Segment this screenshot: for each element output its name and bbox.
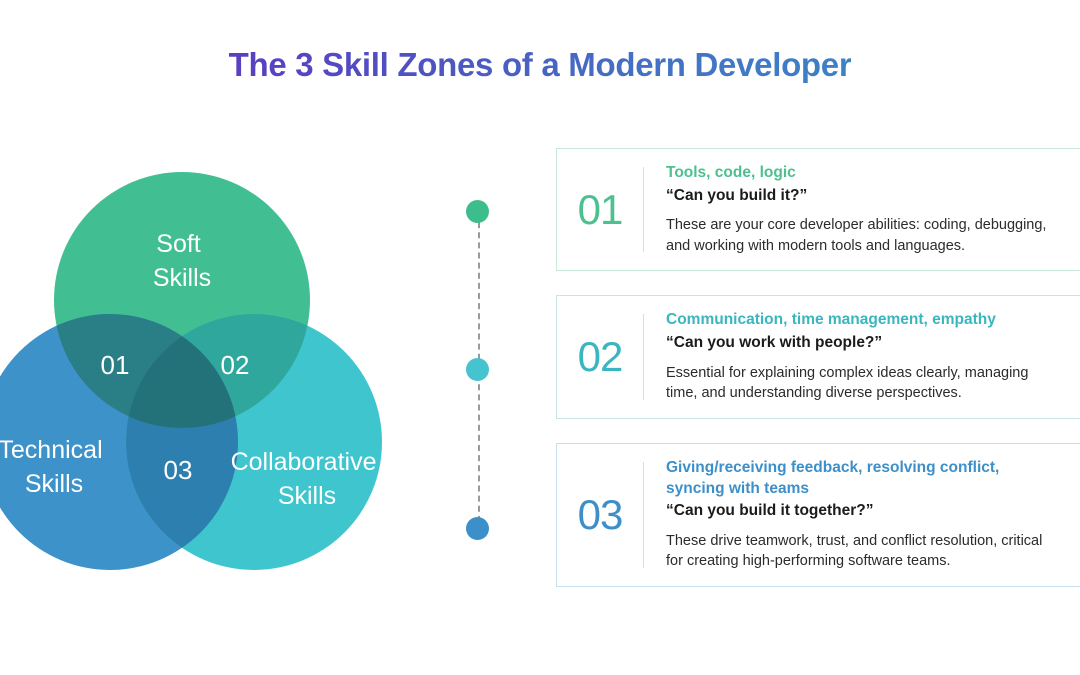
skill-card-question: “Can you work with people?”: [666, 332, 1080, 354]
skill-card-description: These are your core developer abilities:…: [666, 215, 1080, 256]
skill-card-body: Giving/receiving feedback, resolving con…: [644, 458, 1080, 572]
timeline-dot-01[interactable]: [466, 200, 489, 223]
skill-card-03[interactable]: 03 Giving/receiving feedback, resolving …: [556, 443, 1080, 587]
skill-card-description: These drive teamwork, trust, and conflic…: [666, 531, 1080, 572]
skill-card-number: 03: [557, 494, 643, 536]
venn-diagram: Soft Skills Technical Skills Collaborati…: [0, 160, 412, 590]
skill-card-kicker: Giving/receiving feedback, resolving con…: [666, 458, 1080, 499]
timeline-dot-02[interactable]: [466, 358, 489, 381]
skill-card-kicker: Tools, code, logic: [666, 163, 1080, 184]
skill-card-body: Communication, time management, empathy …: [644, 310, 1080, 403]
skill-card-question: “Can you build it together?”: [666, 500, 1080, 522]
skill-card-body: Tools, code, logic “Can you build it?” T…: [644, 163, 1080, 256]
timeline: [466, 200, 492, 540]
timeline-dot-03[interactable]: [466, 517, 489, 540]
venn-number-01: 01: [101, 350, 130, 380]
skill-card-02[interactable]: 02 Communication, time management, empat…: [556, 295, 1080, 418]
page-title-container: The 3 Skill Zones of a Modern Developer: [0, 46, 1080, 84]
page-title: The 3 Skill Zones of a Modern Developer: [229, 46, 852, 84]
skill-card-number: 01: [557, 189, 643, 231]
venn-number-02: 02: [221, 350, 250, 380]
skill-card-description: Essential for explaining complex ideas c…: [666, 363, 1080, 404]
skill-card-01[interactable]: 01 Tools, code, logic “Can you build it?…: [556, 148, 1080, 271]
skill-card-question: “Can you build it?”: [666, 185, 1080, 207]
skill-card-kicker: Communication, time management, empathy: [666, 310, 1080, 331]
venn-number-03: 03: [164, 455, 193, 485]
skill-cards-list: 01 Tools, code, logic “Can you build it?…: [556, 148, 1080, 611]
skill-card-number: 02: [557, 336, 643, 378]
